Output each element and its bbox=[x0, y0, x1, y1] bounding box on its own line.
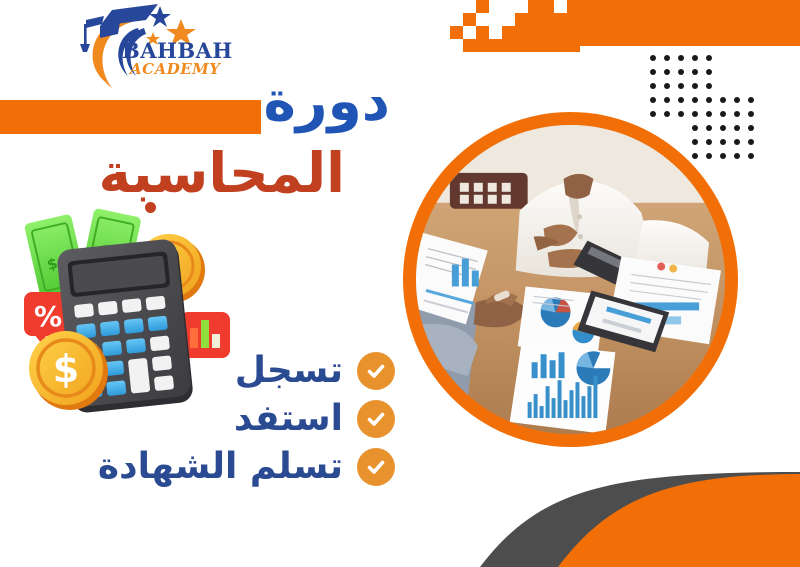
grid-dot bbox=[678, 97, 684, 103]
grid-dot bbox=[692, 153, 698, 159]
pixel-square bbox=[528, 0, 541, 13]
grid-dot bbox=[664, 69, 670, 75]
pixel-square bbox=[528, 39, 541, 52]
pixel-square bbox=[463, 13, 476, 26]
grid-dot bbox=[734, 97, 740, 103]
svg-text:$: $ bbox=[53, 347, 79, 391]
check-circle-icon bbox=[357, 352, 395, 390]
promo-banner: BAHBAH ACADEMY دورة المحاسبة تسجل استفد bbox=[0, 0, 800, 567]
headline-line-2: المحاسبة bbox=[98, 146, 345, 201]
pixel-square bbox=[502, 39, 515, 52]
grid-dot bbox=[720, 111, 726, 117]
grid-dot bbox=[706, 97, 712, 103]
grid-dot bbox=[706, 83, 712, 89]
grid-dot bbox=[650, 55, 656, 61]
grid-dot bbox=[706, 153, 712, 159]
accent-dot-decoration bbox=[145, 202, 156, 213]
grid-dot bbox=[664, 97, 670, 103]
grid-dot bbox=[692, 69, 698, 75]
grid-dot bbox=[664, 83, 670, 89]
grid-dot bbox=[748, 125, 754, 131]
swoosh-orange bbox=[558, 474, 800, 567]
pixel-square bbox=[476, 0, 489, 13]
grid-dot bbox=[748, 139, 754, 145]
grid-dot bbox=[664, 111, 670, 117]
grid-dot bbox=[734, 153, 740, 159]
grid-dot bbox=[692, 55, 698, 61]
grid-dot bbox=[748, 111, 754, 117]
grid-dot bbox=[734, 125, 740, 131]
pixel-square bbox=[515, 26, 528, 39]
pixel-square bbox=[489, 39, 502, 52]
top-left-orange-bar bbox=[0, 100, 261, 134]
pixel-square bbox=[541, 13, 554, 26]
list-item-label: تسجل bbox=[235, 353, 343, 389]
grid-dot bbox=[692, 111, 698, 117]
pixel-square bbox=[554, 39, 567, 52]
pixel-square bbox=[567, 0, 580, 13]
list-item: استفد bbox=[234, 400, 395, 438]
grid-dot bbox=[678, 69, 684, 75]
pixel-square bbox=[554, 26, 567, 39]
pixel-square bbox=[476, 26, 489, 39]
pixel-square bbox=[541, 39, 554, 52]
check-circle-icon bbox=[357, 400, 395, 438]
pixel-square bbox=[515, 39, 528, 52]
list-item-label: استفد bbox=[234, 401, 343, 437]
grid-dot bbox=[678, 111, 684, 117]
swoosh-gray bbox=[480, 472, 800, 567]
dot-grid-decoration bbox=[650, 55, 770, 175]
pixel-square bbox=[528, 13, 541, 26]
grid-dot bbox=[650, 111, 656, 117]
top-right-orange-band bbox=[575, 0, 800, 46]
pixel-square bbox=[541, 0, 554, 13]
list-item: تسجل bbox=[235, 352, 395, 390]
list-item: تسلم الشهادة bbox=[98, 448, 395, 486]
grid-dot bbox=[720, 125, 726, 131]
grid-dot bbox=[706, 55, 712, 61]
brand-logo: BAHBAH ACADEMY bbox=[68, 4, 233, 90]
grid-dot bbox=[692, 83, 698, 89]
grid-dot bbox=[678, 55, 684, 61]
grid-dot bbox=[650, 83, 656, 89]
pixel-square bbox=[528, 26, 541, 39]
grid-dot bbox=[650, 97, 656, 103]
grid-dot bbox=[720, 153, 726, 159]
headline-line-1: دورة bbox=[263, 74, 390, 129]
grid-dot bbox=[734, 111, 740, 117]
grid-dot bbox=[664, 55, 670, 61]
grid-dot bbox=[706, 69, 712, 75]
grid-dot bbox=[720, 139, 726, 145]
grid-dot bbox=[706, 111, 712, 117]
pixel-square bbox=[515, 13, 528, 26]
grid-dot bbox=[692, 125, 698, 131]
bottom-right-swoosh-decoration bbox=[440, 450, 800, 567]
grid-dot bbox=[734, 139, 740, 145]
grid-dot bbox=[650, 69, 656, 75]
check-circle-icon bbox=[357, 448, 395, 486]
pixel-mosaic-decoration bbox=[450, 0, 580, 52]
grid-dot bbox=[692, 139, 698, 145]
pixel-square bbox=[554, 13, 567, 26]
grid-dot bbox=[678, 83, 684, 89]
grid-dot bbox=[748, 97, 754, 103]
pixel-square bbox=[567, 39, 580, 52]
logo-subtitle: ACADEMY bbox=[130, 60, 220, 78]
pixel-square bbox=[450, 26, 463, 39]
list-item-label: تسلم الشهادة bbox=[98, 449, 343, 485]
pixel-square bbox=[567, 26, 580, 39]
pixel-square bbox=[567, 13, 580, 26]
pixel-square bbox=[541, 26, 554, 39]
grid-dot bbox=[748, 153, 754, 159]
grid-dot bbox=[706, 139, 712, 145]
calculator-money-illustration: $$ $ % bbox=[4, 200, 244, 422]
pixel-square bbox=[463, 39, 476, 52]
grid-dot bbox=[720, 97, 726, 103]
pixel-square bbox=[502, 26, 515, 39]
svg-text:%: % bbox=[34, 300, 62, 333]
pixel-square bbox=[476, 39, 489, 52]
grid-dot bbox=[692, 97, 698, 103]
grid-dot bbox=[706, 125, 712, 131]
